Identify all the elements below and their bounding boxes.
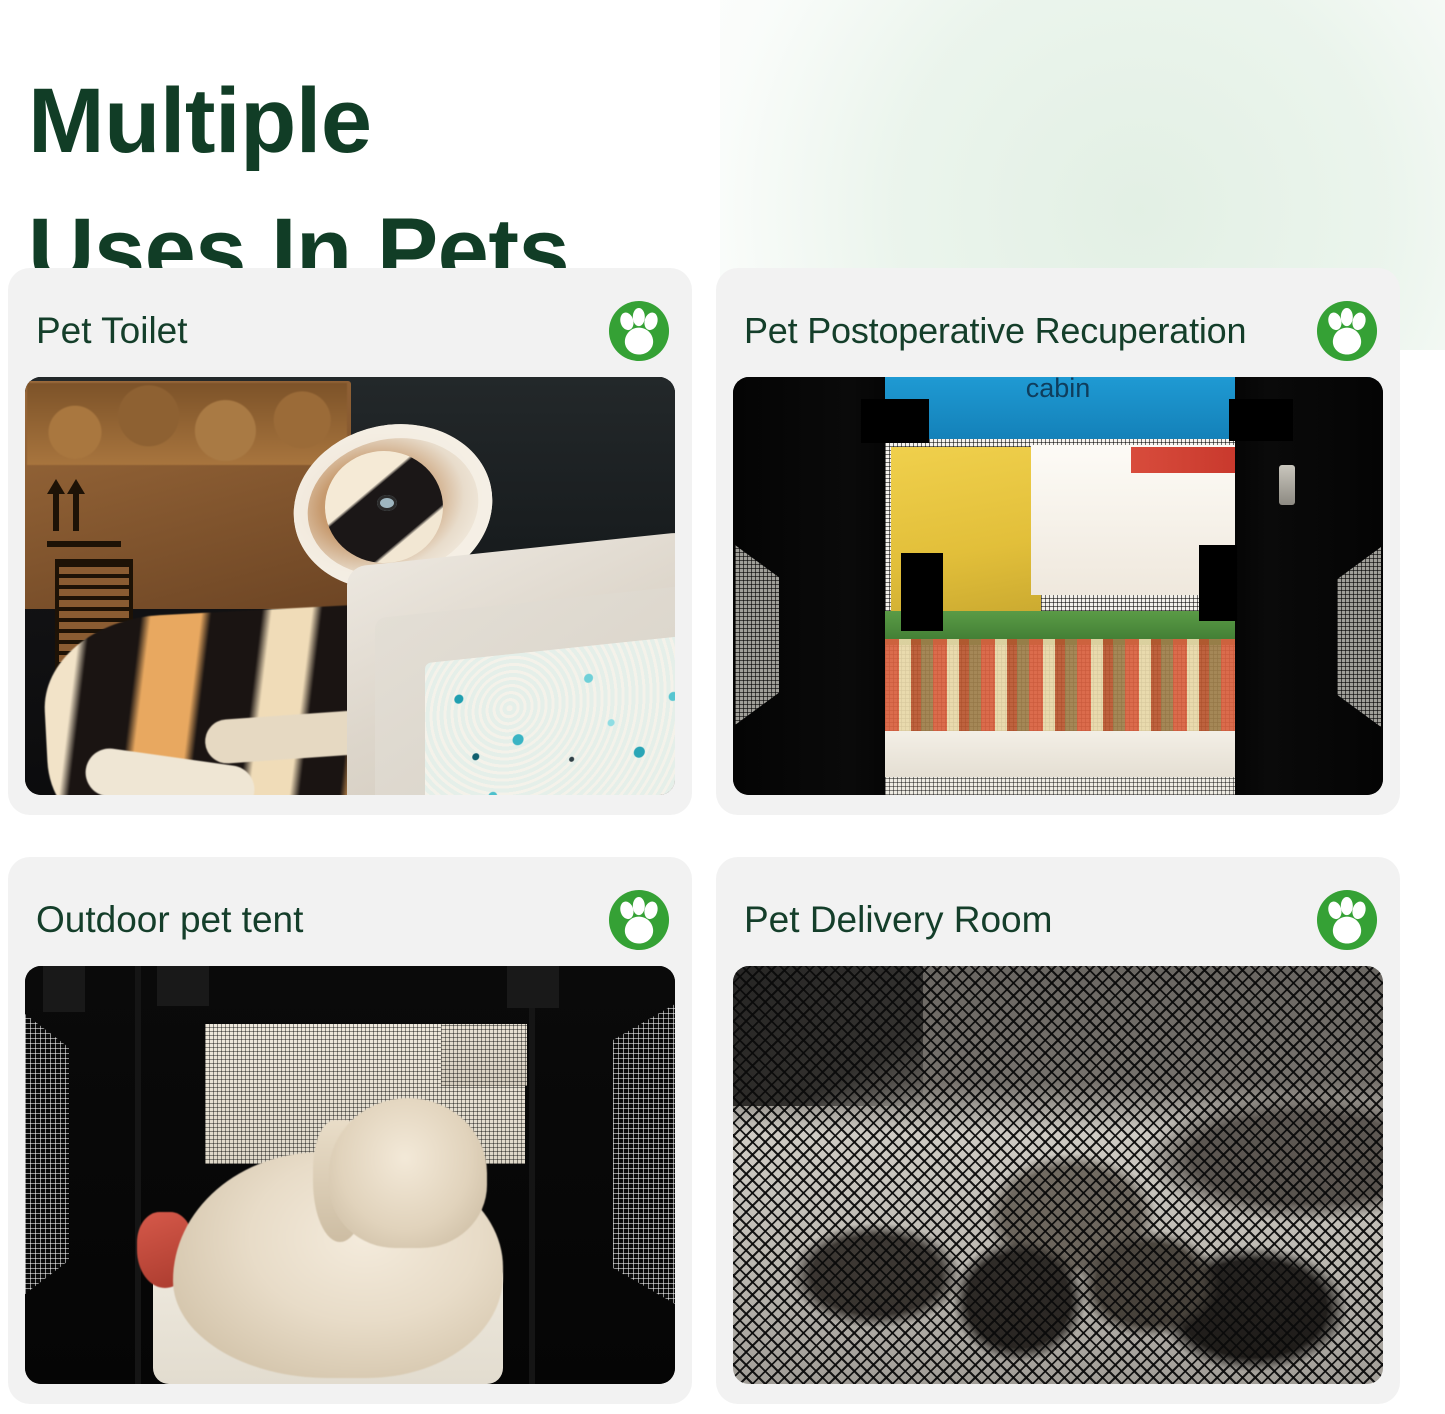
- use-case-card-pet-toilet[interactable]: Pet Toilet: [8, 268, 692, 815]
- card-header: Outdoor pet tent: [25, 874, 675, 966]
- use-case-card-outdoor-pet-tent[interactable]: Outdoor pet tent: [8, 857, 692, 1404]
- paw-print-icon: [1316, 889, 1378, 951]
- card-title: Pet Postoperative Recuperation: [744, 311, 1246, 351]
- pet-carrier-mesh-window-photo: cabin: [733, 377, 1383, 795]
- card-title: Pet Toilet: [36, 311, 188, 352]
- card-header: Pet Toilet: [25, 285, 675, 377]
- paw-print-icon: [608, 889, 670, 951]
- kittens-behind-mesh-screen-photo: [733, 966, 1383, 1384]
- paw-print-icon: [1316, 300, 1378, 362]
- card-header: Pet Delivery Room: [733, 874, 1383, 966]
- use-case-card-pet-postoperative-recuperation[interactable]: Pet Postoperative Recuperation: [716, 268, 1400, 815]
- use-case-card-pet-delivery-room[interactable]: Pet Delivery Room: [716, 857, 1400, 1404]
- dog-in-black-pet-tent-photo: [25, 966, 675, 1384]
- card-header: Pet Postoperative Recuperation: [733, 285, 1383, 377]
- product-feature-page: Multiple Uses In Pets Pet Toilet: [0, 0, 1445, 1414]
- paw-print-icon: [608, 300, 670, 362]
- carrier-brand-text: cabin: [733, 377, 1383, 404]
- card-title: Outdoor pet tent: [36, 900, 303, 941]
- use-case-card-grid: Pet Toilet: [8, 268, 1400, 1404]
- card-title: Pet Delivery Room: [744, 900, 1052, 941]
- cat-wearing-cone-beside-litter-box-photo: [25, 377, 675, 795]
